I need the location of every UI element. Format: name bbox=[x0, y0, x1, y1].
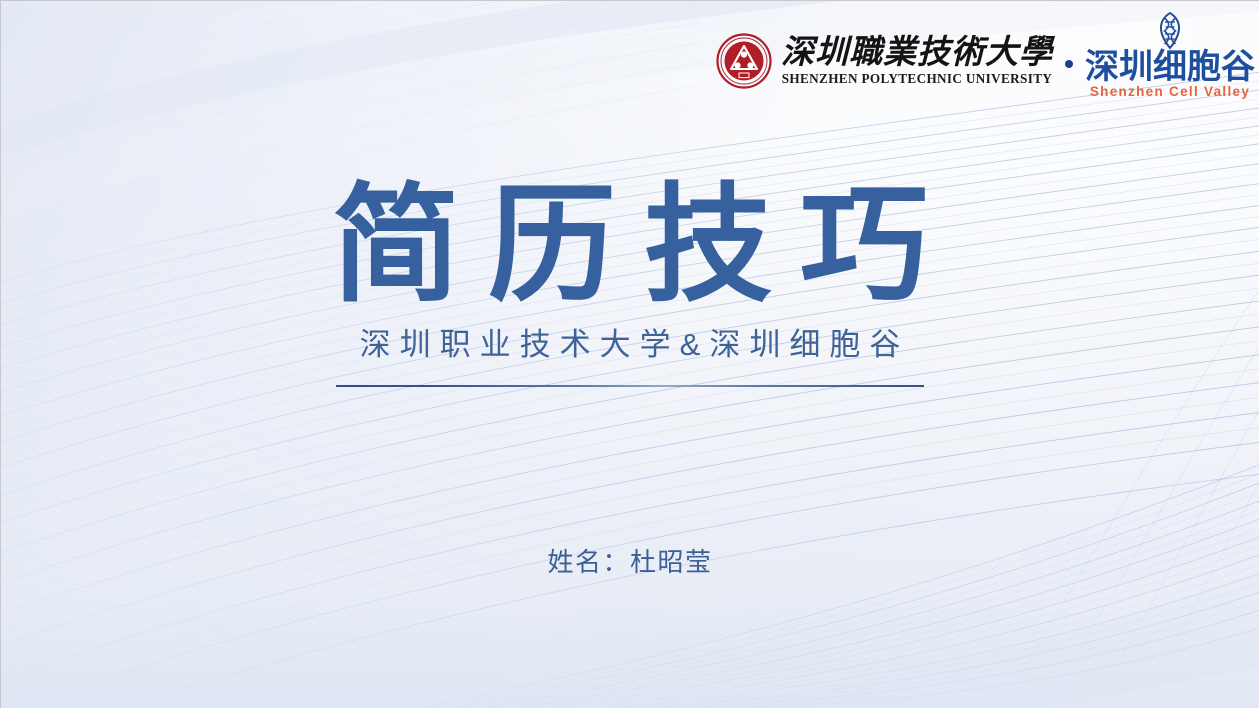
logo-bar: 深圳職業技術大學 SHENZHEN POLYTECHNIC UNIVERSITY… bbox=[716, 13, 1259, 109]
dna-helix-icon bbox=[1149, 10, 1191, 50]
page-title: 简历技巧 bbox=[1, 177, 1259, 315]
university-seal-icon bbox=[716, 33, 772, 89]
cell-valley-logo: 深圳细胞谷 Shenzhen Cell Valley bbox=[1085, 10, 1259, 101]
university-name-block: 深圳職業技術大學 SHENZHEN POLYTECHNIC UNIVERSITY bbox=[781, 37, 1053, 85]
presenter-name: 姓名：杜昭莹 bbox=[1, 542, 1259, 579]
cell-valley-name-en: Shenzhen Cell Valley bbox=[1090, 85, 1250, 100]
university-logo: 深圳職業技術大學 SHENZHEN POLYTECHNIC UNIVERSITY bbox=[716, 25, 1053, 97]
cell-valley-name-cn: 深圳细胞谷 bbox=[1085, 50, 1255, 85]
title-slide: 深圳職業技術大學 SHENZHEN POLYTECHNIC UNIVERSITY… bbox=[0, 0, 1259, 708]
university-name-cn: 深圳職業技術大學 bbox=[781, 37, 1053, 71]
title-divider bbox=[336, 385, 924, 387]
university-name-en: SHENZHEN POLYTECHNIC UNIVERSITY bbox=[781, 72, 1053, 85]
subtitle: 深圳职业技术大学&深圳细胞谷 bbox=[1, 326, 1259, 365]
logo-separator-dot bbox=[1065, 60, 1073, 68]
title-block: 简历技巧 深圳职业技术大学&深圳细胞谷 bbox=[1, 177, 1259, 387]
